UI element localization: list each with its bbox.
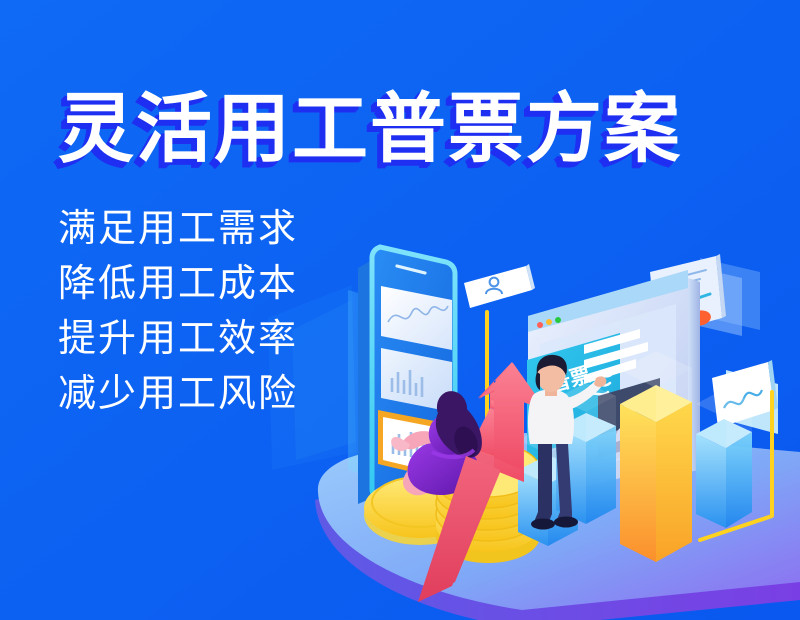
benefit-item-4: 减少用工风险 [58,375,298,413]
benefits-list: 满足用工需求 降低用工成本 提升用工效率 减少用工风险 [58,210,298,430]
benefit-item-2: 降低用工成本 [58,265,298,303]
poster-canvas: 普票 [0,0,800,620]
benefit-item-3: 提升用工效率 [58,320,298,358]
benefit-item-1: 满足用工需求 [58,210,298,248]
page-title: 灵活用工普票方案 [58,92,682,168]
